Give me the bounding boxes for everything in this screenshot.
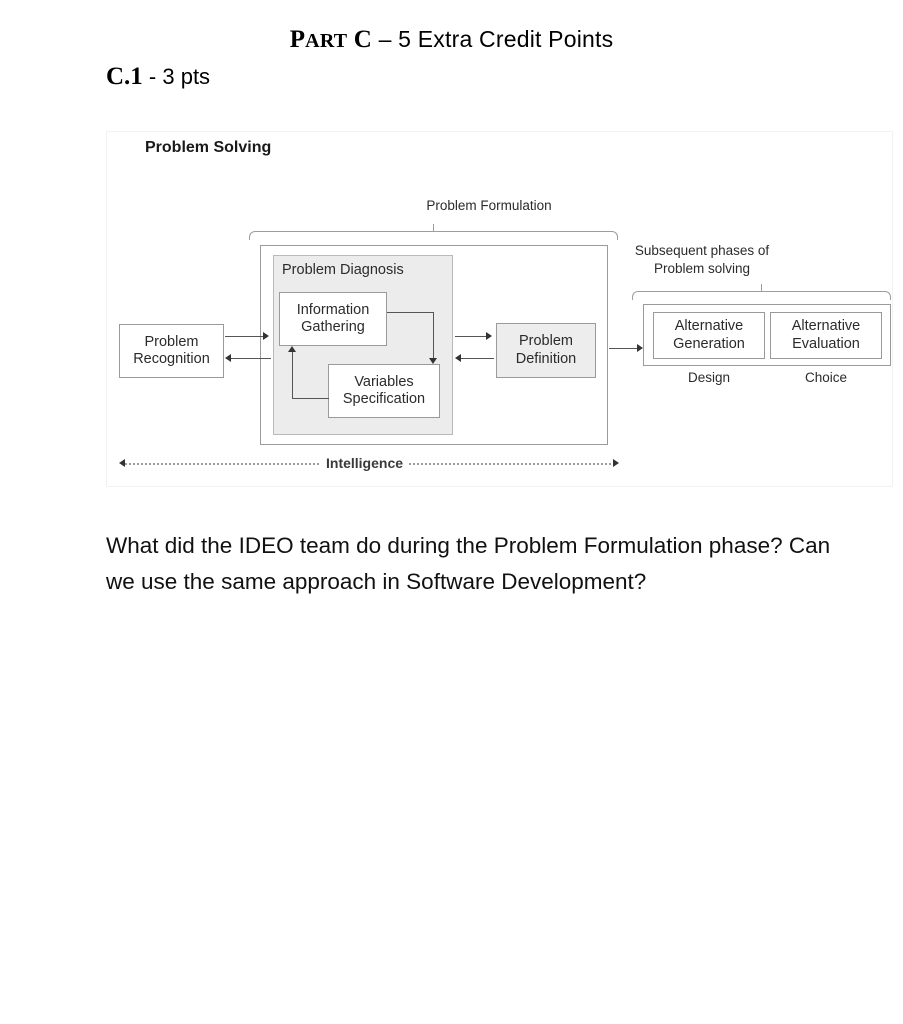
- problem-formulation-bracket: [249, 231, 618, 240]
- arrow-vs-to-ig-horizontal: [292, 398, 329, 399]
- subsequent-phases-bracket: [632, 291, 891, 300]
- choice-caption: Choice: [770, 370, 882, 387]
- problem-definition-text: Problem Definition: [516, 333, 576, 367]
- question-heading: C.1 - 3 pts: [106, 63, 210, 91]
- problem-solving-diagram: Problem Solving Problem Formulation Subs…: [106, 131, 893, 487]
- problem-formulation-label: Problem Formulation: [359, 198, 619, 215]
- intelligence-arrow-right-head: [613, 459, 619, 467]
- question-points: - 3 pts: [143, 64, 210, 89]
- problem-recognition-text: Problem Recognition: [133, 334, 210, 368]
- arrow-pdef-to-pd-head: [455, 354, 461, 362]
- page-title-letter: C: [347, 26, 372, 53]
- subsequent-phases-bracket-tick: [761, 284, 762, 291]
- alternative-generation-text: Alternative Generation: [673, 318, 745, 352]
- question-text: What did the IDEO team do during the Pro…: [106, 528, 846, 599]
- alternative-evaluation-text: Alternative Evaluation: [792, 318, 861, 352]
- design-caption: Design: [653, 370, 765, 387]
- arrow-pd-to-pr-head: [225, 354, 231, 362]
- variables-specification-text: Variables Specification: [343, 374, 425, 408]
- arrow-pd-to-pdef-line: [455, 336, 488, 337]
- diagram-title: Problem Solving: [145, 139, 271, 157]
- information-gathering-text: Information Gathering: [297, 302, 370, 336]
- problem-recognition-box: Problem Recognition: [119, 324, 224, 378]
- arrow-ig-to-vs-head: [429, 358, 437, 364]
- arrow-vs-to-ig-head: [288, 346, 296, 352]
- problem-definition-box: Problem Definition: [496, 323, 596, 378]
- arrow-pdef-to-pd-line: [461, 358, 494, 359]
- problem-diagnosis-label: Problem Diagnosis: [282, 262, 404, 278]
- arrow-pd-to-pdef-head: [486, 332, 492, 340]
- arrow-pr-to-pd-line: [225, 336, 265, 337]
- subsequent-phases-label-line2: Problem solving: [572, 261, 832, 278]
- arrow-ig-to-vs-horizontal: [387, 312, 434, 313]
- arrow-pd-to-pr-line: [231, 358, 271, 359]
- arrow-ig-to-vs-vertical: [433, 312, 434, 358]
- arrow-vs-to-ig-vertical: [292, 352, 293, 398]
- page-title-tail: – 5 Extra Credit Points: [372, 26, 613, 52]
- variables-specification-box: Variables Specification: [328, 364, 440, 418]
- question-number: C.1: [106, 63, 143, 90]
- alternative-generation-box: Alternative Generation: [653, 312, 765, 359]
- alternative-evaluation-box: Alternative Evaluation: [770, 312, 882, 359]
- intelligence-label: Intelligence: [320, 455, 409, 471]
- arrow-pr-to-pd-head: [263, 332, 269, 340]
- page-title: PART C – 5 Extra Credit Points: [0, 26, 903, 54]
- page-title-smallcaps: ART: [305, 30, 347, 52]
- problem-formulation-bracket-tick: [433, 224, 434, 231]
- information-gathering-box: Information Gathering: [279, 292, 387, 346]
- subsequent-phases-label-line1: Subsequent phases of: [572, 243, 832, 260]
- intelligence-arrow-left-head: [119, 459, 125, 467]
- page-title-lead: P: [290, 26, 305, 53]
